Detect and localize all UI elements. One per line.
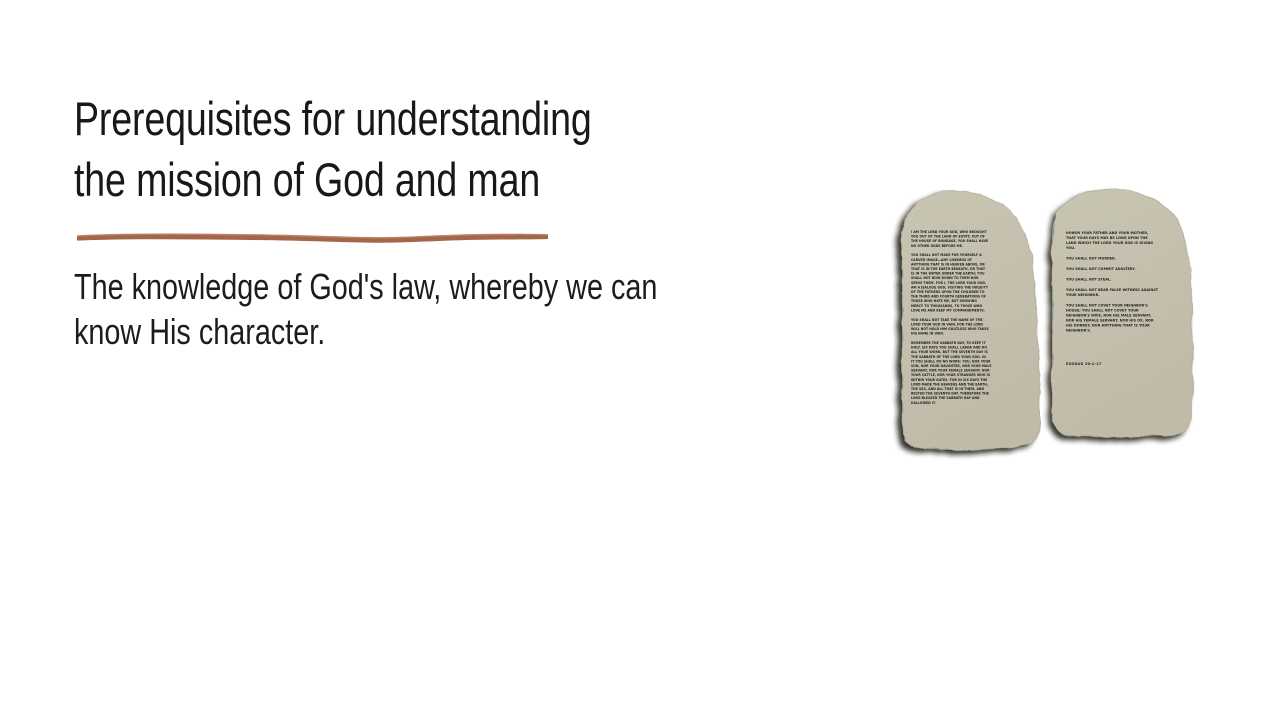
title-placeholder[interactable]: Prerequisites for understanding the miss… bbox=[74, 88, 794, 210]
brush-stroke-divider bbox=[74, 222, 564, 246]
ten-commandments-tablets-image[interactable]: I AM THE LORD YOUR GOD, WHO BROUGHT YOU … bbox=[880, 180, 1210, 470]
page-title: Prerequisites for understanding the miss… bbox=[74, 88, 650, 210]
right-tablet: HONOR YOUR FATHER AND YOUR MOTHER, THAT … bbox=[1052, 189, 1193, 437]
body-text: The knowledge of God's law, whereby we c… bbox=[74, 264, 682, 354]
body-placeholder[interactable]: The knowledge of God's law, whereby we c… bbox=[74, 264, 834, 354]
left-tablet-inscription: I AM THE LORD YOUR GOD, WHO BROUGHT YOU … bbox=[910, 230, 993, 405]
left-tablet: I AM THE LORD YOUR GOD, WHO BROUGHT YOU … bbox=[902, 191, 1040, 450]
scripture-reference: EXODUS 20:1-17 bbox=[1066, 362, 1102, 366]
presentation-slide: Prerequisites for understanding the miss… bbox=[0, 0, 1280, 720]
